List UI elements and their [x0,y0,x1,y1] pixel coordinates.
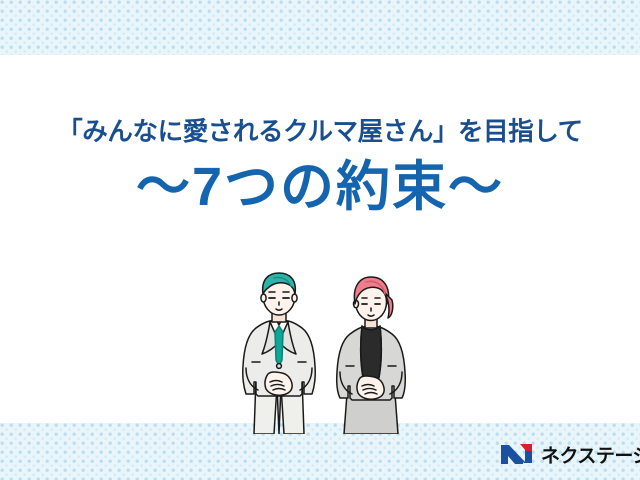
nextage-n-mark-icon [500,442,534,471]
brand-name-text: ネクステージ [541,447,640,466]
headline-subtitle: 「みんなに愛されるクルマ屋さん」を目指して [0,118,640,146]
headline-block: 「みんなに愛されるクルマ屋さん」を目指して 〜7つの約束〜 [0,118,640,216]
male-staff-figure [243,273,316,434]
promotional-banner: 「みんなに愛されるクルマ屋さん」を目指して 〜7つの約束〜 [0,0,640,480]
top-dotted-band [0,0,640,55]
bowing-staff-illustration [232,262,422,434]
brand-logo: ネクステージ [500,440,632,472]
headline-title: 〜7つの約束〜 [0,158,640,216]
female-staff-figure [337,277,406,434]
